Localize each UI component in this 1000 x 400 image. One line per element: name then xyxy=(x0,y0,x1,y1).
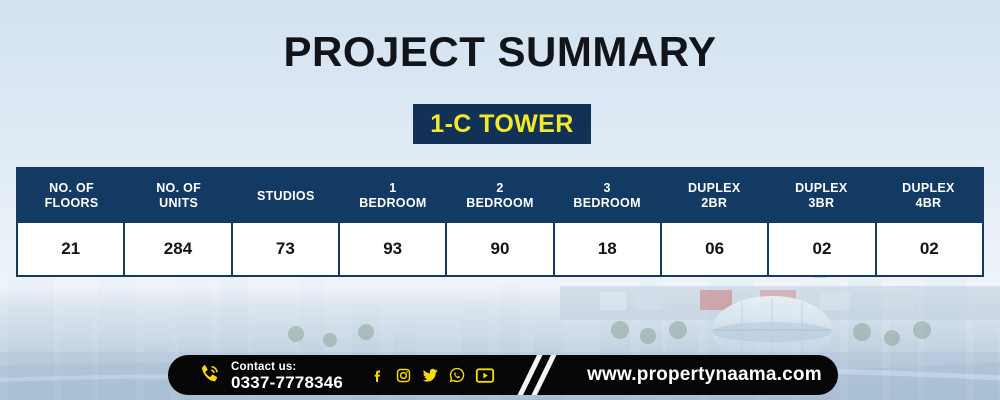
tower-badge-label: 1-C TOWER xyxy=(430,110,573,139)
twitter-icon[interactable] xyxy=(421,366,439,384)
contact-label: Contact us: xyxy=(231,361,296,373)
table-header-cell: 2 BEDROOM xyxy=(446,169,553,223)
whatsapp-icon[interactable] xyxy=(448,366,466,384)
footer-divider-stripes xyxy=(511,355,573,395)
table-cell: 90 xyxy=(447,223,554,275)
table-header-row: NO. OF FLOORS NO. OF UNITS STUDIOS 1 BED… xyxy=(18,169,982,223)
table-header-cell: DUPLEX 2BR xyxy=(661,169,768,223)
table-header-cell: NO. OF FLOORS xyxy=(18,169,125,223)
footer-bar: Contact us: 0337-7778346 xyxy=(168,355,838,395)
contact-text: Contact us: 0337-7778346 xyxy=(231,357,343,393)
facebook-icon[interactable] xyxy=(369,367,386,384)
tower-badge: 1-C TOWER xyxy=(413,104,591,144)
table-cell: 06 xyxy=(662,223,769,275)
page-title: PROJECT SUMMARY xyxy=(0,28,1000,76)
table-cell: 73 xyxy=(233,223,340,275)
table-header-cell: 1 BEDROOM xyxy=(339,169,446,223)
table-cell: 02 xyxy=(877,223,982,275)
table-cell: 21 xyxy=(18,223,125,275)
table-header-cell: DUPLEX 4BR xyxy=(875,169,982,223)
project-summary-table: NO. OF FLOORS NO. OF UNITS STUDIOS 1 BED… xyxy=(16,167,984,277)
table-header-cell: STUDIOS xyxy=(232,169,339,223)
table-cell: 284 xyxy=(125,223,232,275)
table-cell: 18 xyxy=(555,223,662,275)
project-summary-banner: PROJECT SUMMARY 1-C TOWER NO. OF FLOORS … xyxy=(0,0,1000,400)
table-header-cell: NO. OF UNITS xyxy=(125,169,232,223)
youtube-icon[interactable] xyxy=(475,367,495,384)
contact-phone-number[interactable]: 0337-7778346 xyxy=(231,373,343,392)
website-url[interactable]: www.propertynaama.com xyxy=(587,364,822,386)
table-row: 21 284 73 93 90 18 06 02 02 xyxy=(18,223,982,275)
table-cell: 02 xyxy=(769,223,876,275)
table-cell: 93 xyxy=(340,223,447,275)
contact-block[interactable]: Contact us: 0337-7778346 xyxy=(196,357,343,393)
table-header-cell: 3 BEDROOM xyxy=(554,169,661,223)
instagram-icon[interactable] xyxy=(395,367,412,384)
table-header-cell: DUPLEX 3BR xyxy=(768,169,875,223)
social-links[interactable] xyxy=(369,366,495,384)
phone-ringing-icon xyxy=(196,362,222,388)
